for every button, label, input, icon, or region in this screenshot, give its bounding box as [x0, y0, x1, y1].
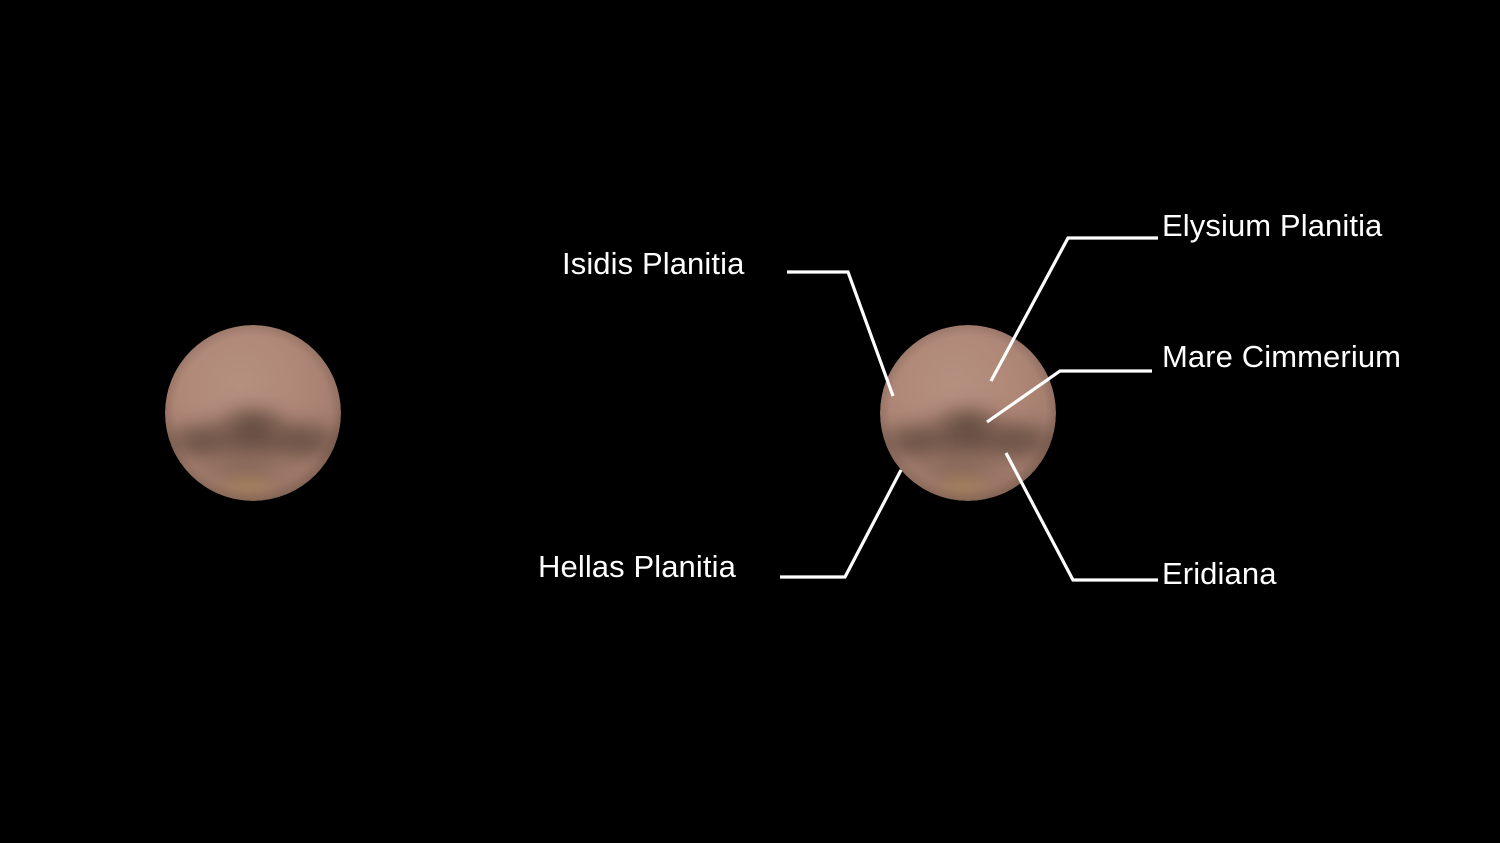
label-hellas-planitia: Hellas Planitia: [538, 551, 736, 582]
leader-line-hellas-planitia: [780, 470, 901, 577]
leader-line-isidis-planitia: [787, 272, 893, 396]
label-mare-cimmerium: Mare Cimmerium: [1162, 341, 1401, 372]
mars-surface-base: [165, 325, 341, 501]
label-isidis-planitia: Isidis Planitia: [562, 248, 744, 279]
image-canvas: Isidis Planitia Hellas Planitia Elysium …: [0, 0, 1500, 843]
mars-surface-base: [880, 325, 1056, 501]
label-elysium-planitia: Elysium Planitia: [1162, 210, 1382, 241]
mars-disk-labeled: [880, 325, 1056, 501]
mars-disk-unlabeled: [165, 325, 341, 501]
label-eridiana: Eridiana: [1162, 558, 1277, 589]
